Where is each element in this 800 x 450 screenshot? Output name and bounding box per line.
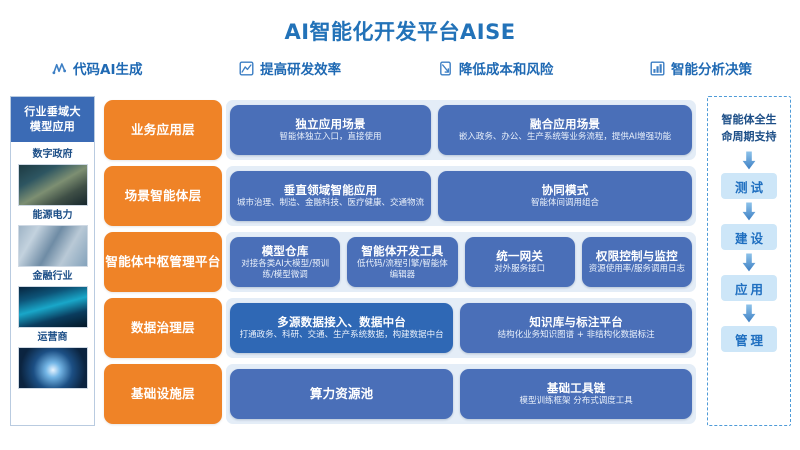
lifecycle-step-4[interactable]: 管理: [721, 326, 777, 352]
content-rows: 独立应用场景智能体独立入口，直接使用融合应用场景嵌入政务、办公、生产系统等业务流…: [226, 96, 696, 426]
card-r4-c1[interactable]: 多源数据接入、数据中台打通政务、科研、交通、生产系统数据，构建数据中台: [230, 303, 453, 353]
card-subtitle: 城市治理、制造、金融科技、医疗健康、交通物流: [237, 198, 424, 209]
card-r2-c2[interactable]: 协同模式智能体间调用组合: [438, 171, 692, 221]
lifecycle-arrow-icon: [740, 301, 758, 326]
layer-label-line: 场景智能体层: [125, 188, 202, 204]
card-subtitle: 智能体独立入口，直接使用: [280, 132, 382, 143]
row-cards: 独立应用场景智能体独立入口，直接使用融合应用场景嵌入政务、办公、生产系统等业务流…: [226, 100, 696, 160]
lifecycle-arrow-icon: [740, 199, 758, 224]
industry-thumbnail: [18, 347, 88, 389]
card-title: 协同模式: [542, 183, 589, 197]
lifecycle-title-line2: 命周期支持: [722, 128, 777, 145]
lifecycle-title-line1: 智能体全生: [722, 111, 777, 128]
lifecycle-steps: 测试建设应用管理: [721, 148, 777, 352]
layer-label-line: 业务应用层: [131, 122, 195, 138]
feature-highlights: 代码AI生成提高研发效率降低成本和风险智能分析决策: [52, 58, 752, 78]
card-r3-c3[interactable]: 统一网关对外服务接口: [465, 237, 575, 287]
card-title: 模型仓库: [262, 244, 309, 258]
card-subtitle: 模型训练框架 分布式调度工具: [520, 396, 633, 407]
analytics-bar-icon: [650, 61, 665, 76]
row-cards: 多源数据接入、数据中台打通政务、科研、交通、生产系统数据，构建数据中台知识库与标…: [226, 298, 696, 358]
row-track-1: 独立应用场景智能体独立入口，直接使用融合应用场景嵌入政务、办公、生产系统等业务流…: [226, 100, 696, 160]
sidebar-heading-line2: 模型应用: [13, 119, 92, 134]
industry-label: 数字政府: [33, 147, 73, 162]
lifecycle-step-1[interactable]: 测试: [721, 173, 777, 199]
card-subtitle: 嵌入政务、办公、生产系统等业务流程，提供AI增强功能: [459, 132, 671, 143]
card-title: 权限控制与监控: [596, 249, 678, 263]
lifecycle-arrow-icon: [740, 250, 758, 275]
card-title: 多源数据接入、数据中台: [277, 315, 406, 329]
card-title: 智能体开发工具: [361, 244, 443, 258]
card-title: 融合应用场景: [530, 117, 600, 131]
card-title: 独立应用场景: [295, 117, 365, 131]
card-r3-c2[interactable]: 智能体开发工具低代码/流程引擎/智能体编辑器: [347, 237, 457, 287]
industry-item-2[interactable]: 能源电力: [17, 207, 88, 267]
lifecycle-panel: 智能体全生 命周期支持 测试建设应用管理: [707, 96, 791, 426]
sidebar-heading-line1: 行业垂域大: [13, 104, 92, 119]
industry-thumbnail: [18, 164, 88, 206]
lifecycle-step-3[interactable]: 应用: [721, 275, 777, 301]
card-r3-c1[interactable]: 模型仓库对接各类AI大模型/预训练/模型微调: [230, 237, 340, 287]
card-r2-c1[interactable]: 垂直领域智能应用城市治理、制造、金融科技、医疗健康、交通物流: [230, 171, 431, 221]
feature-item-3: 降低成本和风险: [438, 58, 554, 78]
card-title: 知识库与标注平台: [529, 315, 623, 329]
layer-label-line: 智能体中枢: [105, 254, 169, 270]
card-title: 基础工具链: [547, 381, 606, 395]
card-r3-c4[interactable]: 权限控制与监控资源使用率/服务调用日志: [582, 237, 692, 287]
layer-button-2[interactable]: 场景智能体层: [104, 166, 222, 226]
row-cards: 算力资源池基础工具链模型训练框架 分布式调度工具: [226, 364, 696, 424]
industry-item-4[interactable]: 运营商: [17, 329, 88, 389]
diagram-root: AI智能化开发平台AISE 代码AI生成提高研发效率降低成本和风险智能分析决策 …: [0, 0, 800, 450]
row-track-5: 算力资源池基础工具链模型训练框架 分布式调度工具: [226, 364, 696, 424]
industry-list: 数字政府能源电力金融行业运营商: [11, 142, 94, 425]
row-track-3: 模型仓库对接各类AI大模型/预训练/模型微调智能体开发工具低代码/流程引擎/智能…: [226, 232, 696, 292]
feature-label: 提高研发效率: [260, 58, 341, 78]
layer-label-line: 管理平台: [169, 254, 220, 270]
feature-item-1: 代码AI生成: [52, 58, 142, 78]
layer-button-5[interactable]: 基础设施层: [104, 364, 222, 424]
feature-item-2: 提高研发效率: [239, 58, 341, 78]
industry-sidebar: 行业垂域大 模型应用 数字政府能源电力金融行业运营商: [10, 96, 95, 426]
code-ai-chart-icon: [52, 61, 67, 76]
industry-item-1[interactable]: 数字政府: [17, 146, 88, 206]
feature-label: 智能分析决策: [671, 58, 752, 78]
layer-button-3[interactable]: 智能体中枢管理平台: [104, 232, 222, 292]
card-r5-c1[interactable]: 算力资源池: [230, 369, 453, 419]
feature-label: 降低成本和风险: [459, 58, 554, 78]
card-title: 垂直领域智能应用: [284, 183, 378, 197]
industry-label: 运营商: [38, 330, 68, 345]
industry-thumbnail: [18, 225, 88, 267]
card-title: 统一网关: [496, 249, 543, 263]
row-cards: 模型仓库对接各类AI大模型/预训练/模型微调智能体开发工具低代码/流程引擎/智能…: [226, 232, 696, 292]
industry-item-3[interactable]: 金融行业: [17, 268, 88, 328]
page-title: AI智能化开发平台AISE: [0, 16, 800, 46]
layer-label-line: 基础设施层: [131, 386, 195, 402]
card-r1-c2[interactable]: 融合应用场景嵌入政务、办公、生产系统等业务流程，提供AI增强功能: [438, 105, 692, 155]
layer-button-1[interactable]: 业务应用层: [104, 100, 222, 160]
card-subtitle: 资源使用率/服务调用日志: [589, 264, 685, 275]
card-subtitle: 对外服务接口: [494, 264, 545, 275]
sidebar-heading: 行业垂域大 模型应用: [11, 97, 94, 142]
card-subtitle: 低代码/流程引擎/智能体编辑器: [353, 259, 451, 281]
card-r1-c1[interactable]: 独立应用场景智能体独立入口，直接使用: [230, 105, 431, 155]
layer-label-line: 数据治理层: [131, 320, 195, 336]
industry-label: 能源电力: [33, 208, 73, 223]
industry-label: 金融行业: [33, 269, 73, 284]
efficiency-chart-icon: [239, 61, 254, 76]
feature-item-4: 智能分析决策: [650, 58, 752, 78]
card-r4-c2[interactable]: 知识库与标注平台结构化业务知识图谱 + 非结构化数据标注: [460, 303, 692, 353]
card-title: 算力资源池: [310, 387, 374, 401]
lifecycle-step-2[interactable]: 建设: [721, 224, 777, 250]
feature-label: 代码AI生成: [73, 58, 142, 78]
card-subtitle: 智能体间调用组合: [531, 198, 599, 209]
lifecycle-arrow-icon: [740, 148, 758, 173]
card-subtitle: 对接各类AI大模型/预训练/模型微调: [236, 259, 334, 281]
row-cards: 垂直领域智能应用城市治理、制造、金融科技、医疗健康、交通物流协同模式智能体间调用…: [226, 166, 696, 226]
row-track-4: 多源数据接入、数据中台打通政务、科研、交通、生产系统数据，构建数据中台知识库与标…: [226, 298, 696, 358]
layer-button-4[interactable]: 数据治理层: [104, 298, 222, 358]
card-r5-c2[interactable]: 基础工具链模型训练框架 分布式调度工具: [460, 369, 692, 419]
architecture-board: 行业垂域大 模型应用 数字政府能源电力金融行业运营商 业务应用层场景智能体层智能…: [0, 96, 800, 436]
card-subtitle: 打通政务、科研、交通、生产系统数据，构建数据中台: [240, 330, 444, 341]
cost-down-icon: [438, 61, 453, 76]
layer-column: 业务应用层场景智能体层智能体中枢管理平台数据治理层基础设施层: [104, 96, 222, 426]
card-subtitle: 结构化业务知识图谱 + 非结构化数据标注: [498, 330, 655, 341]
lifecycle-title: 智能体全生 命周期支持: [722, 111, 777, 145]
industry-thumbnail: [18, 286, 88, 328]
row-track-2: 垂直领域智能应用城市治理、制造、金融科技、医疗健康、交通物流协同模式智能体间调用…: [226, 166, 696, 226]
